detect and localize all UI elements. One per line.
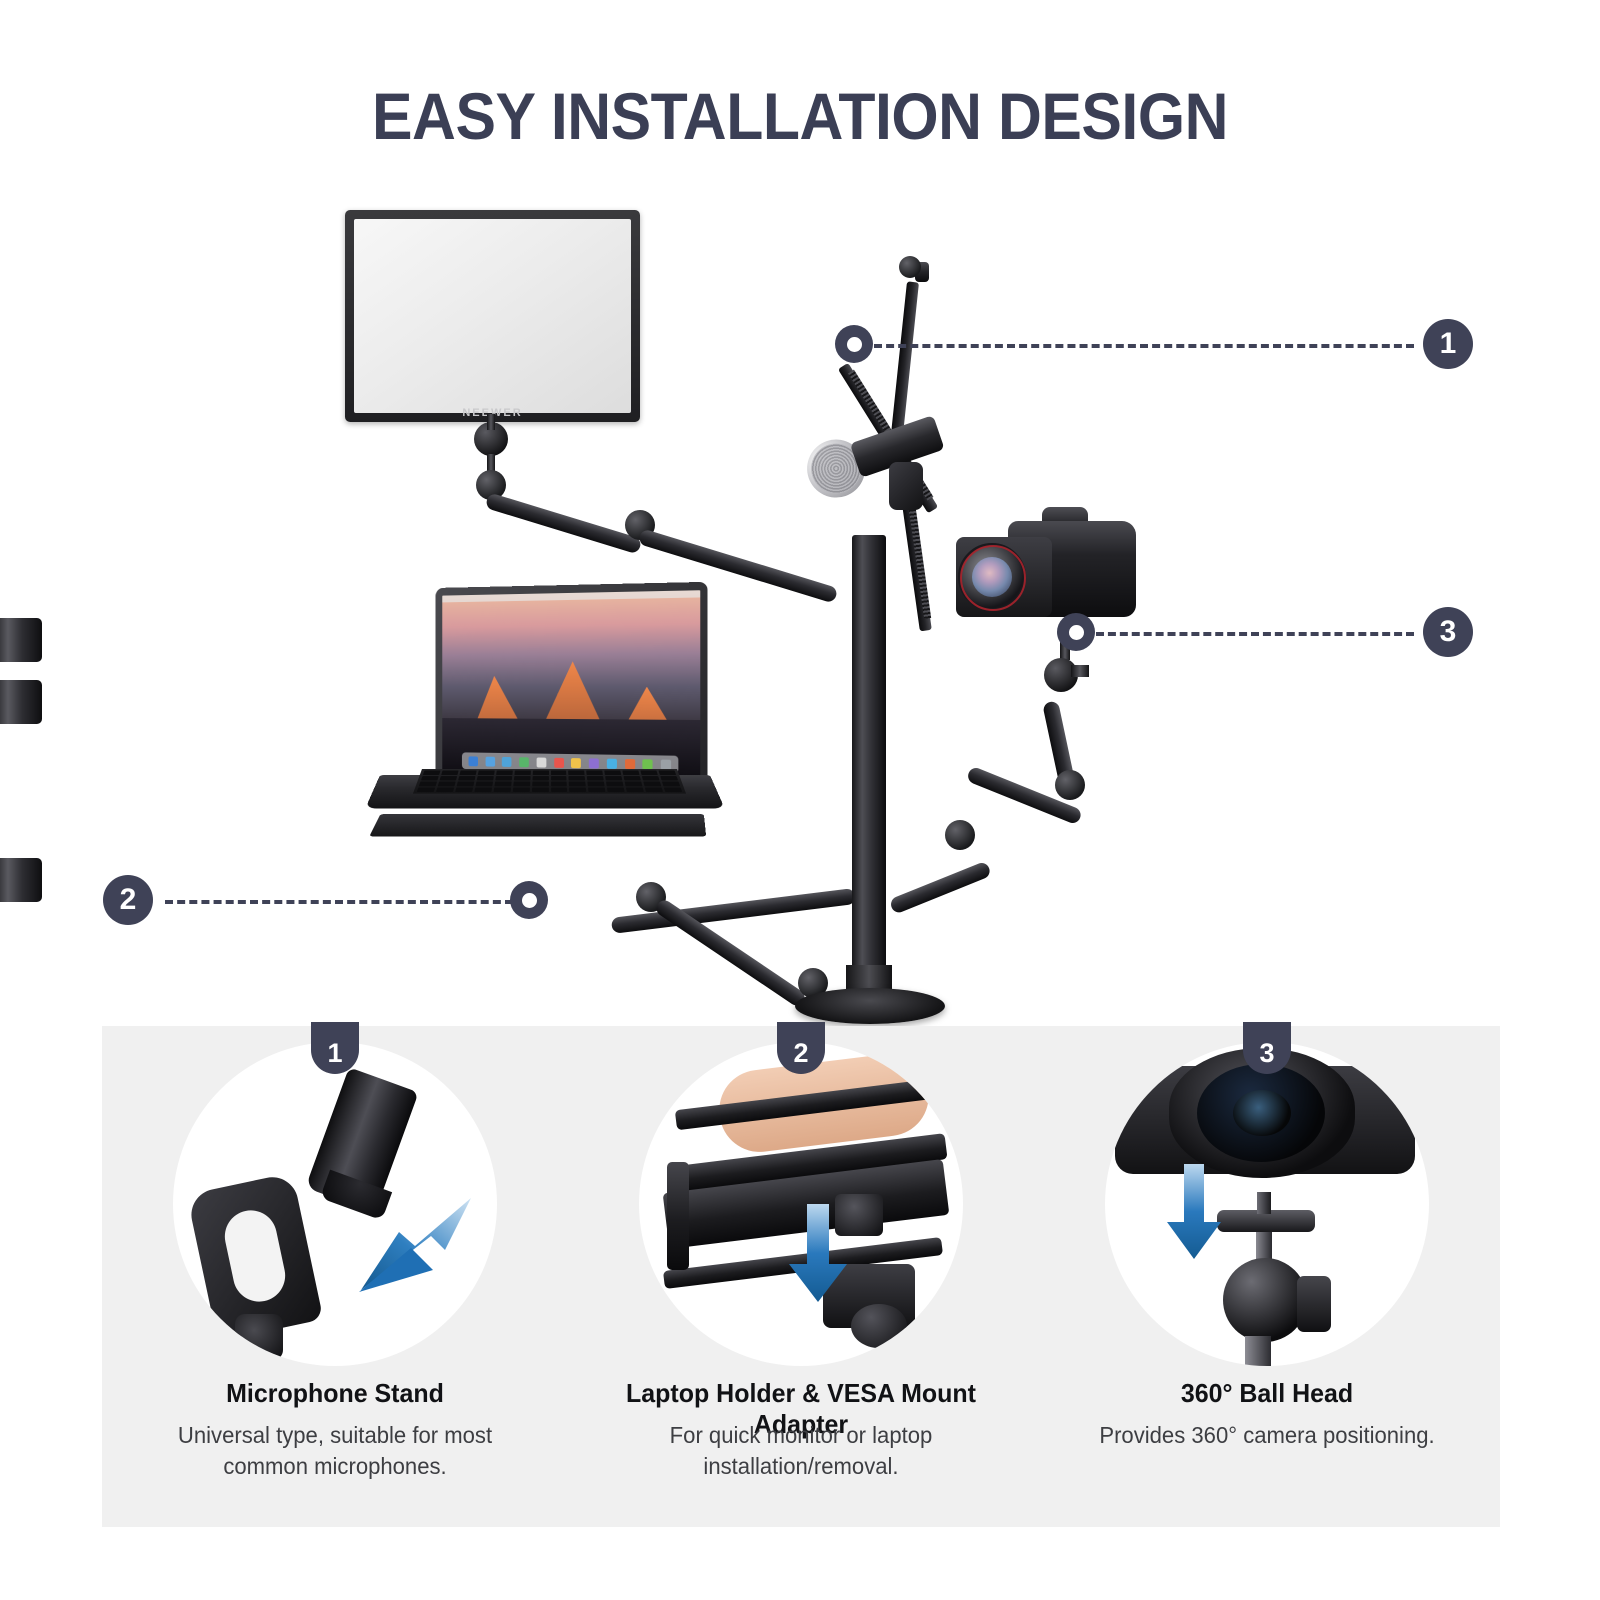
key <box>458 776 475 780</box>
ball-head-base-stem <box>1245 1336 1271 1366</box>
feature-card-laptop-holder[interactable]: 2 Laptop Holder & VESA Mount Adapter For… <box>568 1026 1034 1527</box>
callout-badge-3: 3 <box>1423 607 1473 657</box>
key <box>532 781 549 786</box>
key <box>531 787 548 792</box>
key <box>423 771 441 775</box>
page-title: EASY INSTALLATION DESIGN <box>64 78 1536 154</box>
dock-icon-settings <box>661 759 671 769</box>
laptop-on-tray <box>380 585 710 865</box>
feature-image-3 <box>1105 1042 1429 1366</box>
key <box>587 776 604 780</box>
light-arm-segment-1 <box>485 492 643 554</box>
feature-badge-1: 1 <box>311 1022 359 1074</box>
key <box>455 787 473 792</box>
feature-desc-3: Provides 360° camera positioning. <box>1043 1420 1490 1451</box>
microphone-boom-arm <box>795 250 975 670</box>
laptop-keyboard <box>413 769 686 794</box>
dock-icon-messages <box>607 758 617 768</box>
key <box>569 771 585 775</box>
feature-badge-2: 2 <box>777 1022 825 1074</box>
key <box>623 771 640 775</box>
feature-badge-3: 3 <box>1243 1022 1291 1074</box>
boom-pivot-top <box>899 256 921 278</box>
vesa-clamp-knob <box>851 1304 907 1348</box>
led-panel-face <box>354 219 631 413</box>
key <box>643 781 661 786</box>
column-base-disc <box>795 988 945 1024</box>
ball-head-icon <box>1223 1258 1307 1342</box>
led-stud <box>487 414 495 430</box>
key <box>606 781 623 786</box>
key <box>551 776 567 780</box>
key <box>439 776 457 780</box>
ball-head-lock-lever <box>1297 1276 1331 1332</box>
dock-icon-photos <box>589 758 599 768</box>
column-collar-upper <box>0 618 42 662</box>
column-collar-mid <box>0 680 42 724</box>
key <box>551 771 567 775</box>
feature-card-microphone-stand[interactable]: 1 Microphone Stand Universal type, suita… <box>102 1026 568 1527</box>
dslr-camera <box>950 515 1140 645</box>
callout-badge-1: 1 <box>1423 319 1473 369</box>
callout-anchor-3 <box>1057 613 1095 651</box>
key <box>645 787 663 792</box>
ball-head-lock-knob <box>1071 665 1089 677</box>
laptop-menubar <box>442 590 700 602</box>
laptop-lid <box>436 582 708 788</box>
key <box>417 787 435 792</box>
key <box>605 771 622 775</box>
key <box>551 781 568 786</box>
key <box>459 771 476 775</box>
key <box>569 781 586 786</box>
key <box>588 781 605 786</box>
key <box>495 776 512 780</box>
key <box>588 787 605 792</box>
key <box>493 787 510 792</box>
key <box>532 771 548 775</box>
key <box>436 787 454 792</box>
key <box>664 787 682 792</box>
callout-line-1 <box>874 344 1414 348</box>
key <box>514 771 530 775</box>
install-arrow-1-icon <box>353 1192 483 1302</box>
key <box>587 771 604 775</box>
key <box>512 787 529 792</box>
microphone-clip-holder <box>889 462 923 510</box>
product-hero-illustration: NEEWER <box>0 170 1600 1030</box>
camera-arm-elbow <box>1055 770 1085 800</box>
feature-desc-2: For quick monitor or laptop installation… <box>577 1420 1024 1482</box>
key <box>662 781 680 786</box>
ball-head-screw <box>1257 1192 1271 1214</box>
led-panel-light: NEEWER <box>345 210 640 422</box>
dock-icon-mail <box>519 757 529 767</box>
dock-icon-itunes <box>625 758 635 768</box>
camera-lens-red-ring <box>960 545 1026 611</box>
key <box>605 776 622 780</box>
dock-icon-notes <box>571 758 581 768</box>
key <box>569 776 586 780</box>
key <box>441 771 458 775</box>
key <box>569 787 586 792</box>
key <box>456 781 474 786</box>
microphone-clip-swivel <box>235 1314 283 1360</box>
laptop-screen <box>442 590 700 775</box>
dock-icon-contacts <box>536 757 546 767</box>
callout-anchor-2 <box>510 881 548 919</box>
callout-badge-2: 2 <box>103 875 153 925</box>
feature-panel: 1 Microphone Stand Universal type, suita… <box>102 1026 1500 1527</box>
lens-inner-element <box>1233 1090 1291 1136</box>
dock-icon-launchpad <box>485 756 495 766</box>
key <box>625 781 643 786</box>
feature-image-2 <box>639 1042 963 1366</box>
feature-title-3: 360° Ball Head <box>1043 1378 1490 1409</box>
key <box>641 771 658 775</box>
feature-image-1 <box>173 1042 497 1366</box>
tray-left-bracket <box>667 1162 689 1270</box>
feature-card-ball-head[interactable]: 3 360° Ball Head Provides 360° camera po… <box>1034 1026 1500 1527</box>
feature-desc-1: Universal type, suitable for most common… <box>111 1420 558 1482</box>
install-arrow-2-icon <box>785 1202 851 1306</box>
key <box>607 787 625 792</box>
key <box>419 781 437 786</box>
dock-icon-safari <box>502 756 512 766</box>
key <box>496 771 513 775</box>
feature-title-1: Microphone Stand <box>111 1378 558 1409</box>
dock-icon-calendar <box>554 757 564 767</box>
callout-line-2 <box>165 900 513 904</box>
key <box>660 776 678 780</box>
key <box>551 787 568 792</box>
camera-arm-to-column <box>889 861 992 915</box>
key <box>642 776 660 780</box>
key <box>421 776 439 780</box>
key <box>476 776 493 780</box>
key <box>626 787 644 792</box>
camera-lens <box>956 537 1052 617</box>
key <box>513 776 530 780</box>
key <box>438 781 456 786</box>
camera-arm-mid-joint <box>945 820 975 850</box>
key <box>475 781 492 786</box>
column-collar-lower <box>0 858 42 902</box>
dock-icon-appstore <box>643 759 653 769</box>
feature-grid: 1 Microphone Stand Universal type, suita… <box>102 1026 1500 1527</box>
callout-anchor-1 <box>835 325 873 363</box>
key <box>474 787 492 792</box>
key <box>494 781 511 786</box>
key <box>624 776 641 780</box>
laptop-holder-tray <box>369 814 706 836</box>
key <box>659 771 677 775</box>
callout-line-3 <box>1096 632 1414 636</box>
key <box>478 771 495 775</box>
install-arrow-3-icon <box>1163 1162 1225 1262</box>
key <box>513 781 530 786</box>
key <box>532 776 548 780</box>
dock-icon-finder <box>468 756 477 766</box>
